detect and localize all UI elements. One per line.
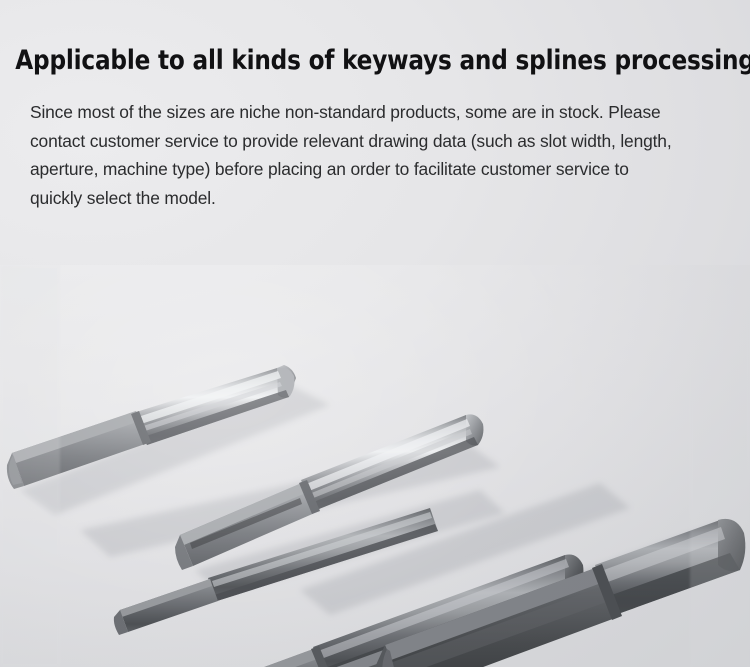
description-paragraph: Since most of the sizes are niche non-st… <box>0 78 750 212</box>
product-photo-illustration <box>0 265 750 667</box>
page-title: Applicable to all kinds of keyways and s… <box>0 0 716 78</box>
text-content-block: Applicable to all kinds of keyways and s… <box>0 0 750 212</box>
product-detail-page: Applicable to all kinds of keyways and s… <box>0 0 750 667</box>
product-photo <box>0 265 750 667</box>
keyway-broach-6 <box>376 519 745 667</box>
